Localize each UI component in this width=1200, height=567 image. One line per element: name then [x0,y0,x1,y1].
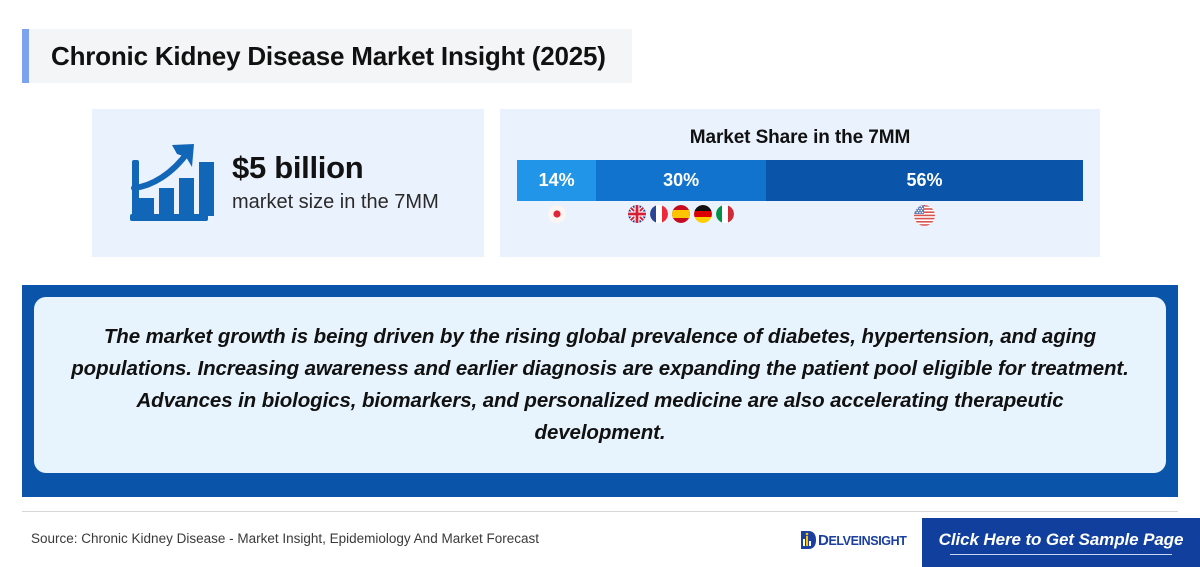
logo-word-rest: ELVEINSIGHT [828,534,906,548]
market-size-value: $5 billion [232,151,439,186]
market-size-card: $5 billion market size in the 7MM [92,109,484,257]
italy-flag-icon [716,205,734,223]
market-share-segment-japan: 14% [517,160,596,201]
cta-underline [950,554,1172,556]
united-states-flag-icon [914,205,935,226]
germany-flag-icon [694,205,712,223]
insight-banner-text: The market growth is being driven by the… [70,321,1130,448]
flag-group-united-states [766,205,1083,226]
market-share-title: Market Share in the 7MM [500,109,1100,149]
insight-banner: The market growth is being driven by the… [22,285,1178,497]
delveinsight-wordmark: DELVEINSIGHT [818,533,906,548]
flag-group-japan [517,205,596,223]
title-accent-bar [22,29,29,83]
page-title: Chronic Kidney Disease Market Insight (2… [29,29,606,83]
united-kingdom-flag-icon [628,205,646,223]
spain-flag-icon [672,205,690,223]
flag-group-eu4-uk [596,205,766,223]
market-share-segment-eu4-uk: 30% [596,160,766,201]
delveinsight-logo: DELVEINSIGHT [800,529,906,551]
segment-label-japan: 14% [539,170,575,191]
japan-flag-icon [548,205,566,223]
footer-divider [22,511,1178,512]
market-share-segment-united-states: 56% [766,160,1083,201]
insight-banner-inner: The market growth is being driven by the… [34,297,1166,473]
cta-label: Click Here to Get Sample Page [939,530,1184,550]
segment-label-eu4-uk: 30% [663,170,699,191]
segment-label-united-states: 56% [906,170,942,191]
delveinsight-d-icon [800,530,817,550]
market-share-stacked-bar: 14% 30% 56% [517,160,1083,201]
logo-word-first: D [818,532,828,549]
page-title-bar: Chronic Kidney Disease Market Insight (2… [22,29,632,83]
market-share-flag-row [517,205,1083,253]
market-size-label: market size in the 7MM [232,189,439,215]
growth-bar-chart-icon [126,140,218,226]
get-sample-page-button[interactable]: Click Here to Get Sample Page [922,518,1200,567]
source-text: Source: Chronic Kidney Disease - Market … [31,531,539,546]
market-size-texts: $5 billion market size in the 7MM [232,151,439,215]
france-flag-icon [650,205,668,223]
market-share-card: Market Share in the 7MM 14% 30% 56% [500,109,1100,257]
